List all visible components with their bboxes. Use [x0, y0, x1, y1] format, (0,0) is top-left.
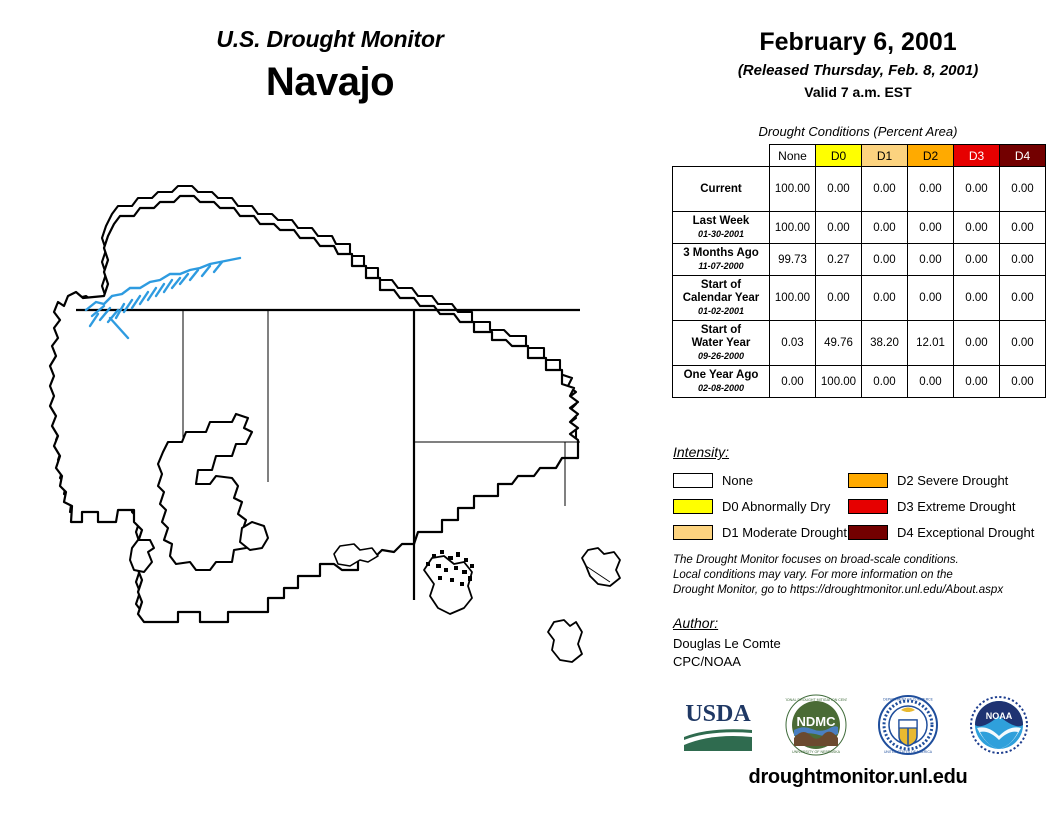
table-cell-value: 0.00	[908, 366, 954, 398]
table-col-header-d4: D4	[1000, 145, 1046, 167]
map-svg	[20, 130, 660, 690]
valid-date: February 6, 2001	[660, 28, 1056, 57]
legend-label: D1 Moderate Drought	[722, 525, 847, 540]
detached-parcel-north	[334, 544, 378, 566]
legend-label: D4 Exceptional Drought	[897, 525, 1034, 540]
table-cell-value: 0.00	[954, 366, 1000, 398]
table-row-label: 3 Months Ago11-07-2000	[673, 244, 770, 276]
table-row-label: Current	[673, 167, 770, 212]
table-row: Current100.000.000.000.000.000.00	[673, 167, 1046, 212]
svg-text:UNITED STATES OF AMERICA: UNITED STATES OF AMERICA	[884, 750, 933, 754]
legend-swatch	[673, 525, 713, 540]
title-block: U.S. Drought Monitor Navajo	[0, 26, 660, 105]
table-cell-value: 0.00	[862, 167, 908, 212]
row-label-date: 01-02-2001	[675, 305, 767, 317]
disclaimer-line-2: Local conditions may vary. For more info…	[673, 568, 1053, 583]
row-label-text: Start of	[675, 279, 767, 292]
table-cell-value: 0.00	[1000, 212, 1046, 244]
row-label-text: 3 Months Ago	[675, 247, 767, 260]
ndmc-logo: NDMC NATIONAL DROUGHT MITIGATION CENTER …	[785, 694, 847, 756]
author-title: Author:	[673, 615, 718, 631]
table-cell-value: 38.20	[862, 321, 908, 366]
row-label-date: 01-30-2001	[675, 228, 767, 240]
legend-swatch	[848, 473, 888, 488]
table-cell-value: 0.00	[908, 244, 954, 276]
table-cell-value: 0.00	[1000, 276, 1046, 321]
svg-text:NATIONAL DROUGHT MITIGATION CE: NATIONAL DROUGHT MITIGATION CENTER	[785, 698, 847, 702]
table-cell-value: 0.00	[1000, 244, 1046, 276]
table-cell-value: 0.00	[1000, 167, 1046, 212]
legend-swatch	[673, 473, 713, 488]
detached-parcel-tohajiilee	[548, 620, 582, 662]
row-label-text: One Year Ago	[675, 369, 767, 382]
table-cell-value: 0.00	[862, 366, 908, 398]
table-cell-value: 0.00	[1000, 366, 1046, 398]
author-block: Douglas Le Comte CPC/NOAA	[673, 635, 781, 671]
intensity-legend-title: Intensity:	[673, 444, 729, 460]
legend-row: D2 Severe Drought	[848, 468, 1034, 492]
legend-row: D0 Abnormally Dry	[673, 494, 847, 518]
region-title: Navajo	[0, 60, 660, 105]
table-cell-value: 0.00	[1000, 321, 1046, 366]
site-url: droughtmonitor.unl.edu	[660, 766, 1056, 789]
table-cell-value: 100.00	[770, 212, 816, 244]
table-cell-value: 100.00	[770, 167, 816, 212]
table-col-header-d3: D3	[954, 145, 1000, 167]
svg-text:NOAA: NOAA	[986, 711, 1013, 721]
table-row: 3 Months Ago11-07-200099.730.270.000.000…	[673, 244, 1046, 276]
row-label-text: Calendar Year	[675, 292, 767, 305]
drought-map	[20, 130, 660, 690]
usda-logo: USDA	[680, 697, 756, 753]
table-cell-value: 0.00	[954, 321, 1000, 366]
legend-row: D3 Extreme Drought	[848, 494, 1034, 518]
disclaimer-line-3: Drought Monitor, go to https://droughtmo…	[673, 583, 1053, 598]
valid-time: Valid 7 a.m. EST	[660, 84, 1056, 100]
map-boundaries	[50, 196, 620, 662]
drought-conditions-table: NoneD0D1D2D3D4 Current100.000.000.000.00…	[672, 144, 1046, 398]
row-label-date: 09-26-2000	[675, 350, 767, 362]
table-cell-value: 49.76	[816, 321, 862, 366]
table-cell-value: 100.00	[816, 366, 862, 398]
legend-swatch	[848, 525, 888, 540]
table-col-header-none: None	[770, 145, 816, 167]
table-col-header-d2: D2	[908, 145, 954, 167]
legend-row: D1 Moderate Drought	[673, 520, 847, 544]
table-cell-value: 0.27	[816, 244, 862, 276]
detached-parcel-alamo	[424, 556, 472, 614]
table-row-label: Last Week01-30-2001	[673, 212, 770, 244]
program-title: U.S. Drought Monitor	[0, 26, 660, 53]
legend-row: D4 Exceptional Drought	[848, 520, 1034, 544]
logo-row: USDA NDMC NATIONAL DROUGHT MITIGATION CE…	[665, 690, 1045, 760]
intensity-legend-left: NoneD0 Abnormally DryD1 Moderate Drought	[673, 468, 847, 546]
legend-label: D2 Severe Drought	[897, 473, 1008, 488]
disclaimer-line-1: The Drought Monitor focuses on broad-sca…	[673, 553, 1053, 568]
table-row-label: Start ofWater Year09-26-2000	[673, 321, 770, 366]
table-cell-value: 99.73	[770, 244, 816, 276]
legend-label: D3 Extreme Drought	[897, 499, 1016, 514]
table-cell-value: 0.00	[816, 276, 862, 321]
noaa-logo: NOAA	[968, 694, 1030, 756]
table-cell-value: 0.00	[816, 212, 862, 244]
table-row: Last Week01-30-2001100.000.000.000.000.0…	[673, 212, 1046, 244]
legend-label: None	[722, 473, 753, 488]
table-cell-value: 0.00	[862, 212, 908, 244]
release-date: (Released Thursday, Feb. 8, 2001)	[660, 62, 1056, 79]
svg-text:DEPARTMENT OF COMMERCE: DEPARTMENT OF COMMERCE	[883, 698, 933, 702]
svg-text:NDMC: NDMC	[797, 714, 837, 729]
table-corner-cell	[673, 145, 770, 167]
table-cell-value: 0.00	[908, 167, 954, 212]
table-row: Start ofWater Year09-26-20000.0349.7638.…	[673, 321, 1046, 366]
legend-label: D0 Abnormally Dry	[722, 499, 830, 514]
table-col-header-d1: D1	[862, 145, 908, 167]
table-cell-value: 100.00	[770, 276, 816, 321]
table-row-label: Start ofCalendar Year01-02-2001	[673, 276, 770, 321]
date-block: February 6, 2001 (Released Thursday, Feb…	[660, 28, 1056, 100]
table-caption: Drought Conditions (Percent Area)	[660, 124, 1056, 139]
table-cell-value: 0.00	[954, 244, 1000, 276]
usdc-seal-logo: DEPARTMENT OF COMMERCE UNITED STATES OF …	[877, 694, 939, 756]
row-label-text: Last Week	[675, 215, 767, 228]
table-body: Current100.000.000.000.000.000.00Last We…	[673, 167, 1046, 398]
table-row: Start ofCalendar Year01-02-2001100.000.0…	[673, 276, 1046, 321]
table-cell-value: 0.03	[770, 321, 816, 366]
row-label-date: 11-07-2000	[675, 260, 767, 272]
row-label-text: Start of	[675, 324, 767, 337]
table-col-header-d0: D0	[816, 145, 862, 167]
author-affiliation: CPC/NOAA	[673, 653, 781, 671]
hopi-village-polygon	[240, 522, 268, 550]
author-name: Douglas Le Comte	[673, 635, 781, 653]
table-cell-value: 0.00	[954, 167, 1000, 212]
table-header-row: NoneD0D1D2D3D4	[673, 145, 1046, 167]
row-label-text: Current	[675, 183, 767, 196]
table-cell-value: 0.00	[770, 366, 816, 398]
table-cell-value: 12.01	[908, 321, 954, 366]
table-cell-value: 0.00	[954, 212, 1000, 244]
svg-text:USDA: USDA	[685, 701, 751, 727]
intensity-legend-right: D2 Severe DroughtD3 Extreme DroughtD4 Ex…	[848, 468, 1034, 546]
table-row-label: One Year Ago02-08-2000	[673, 366, 770, 398]
row-label-text: Water Year	[675, 337, 767, 350]
navajo-boundary	[50, 196, 578, 622]
table-cell-value: 0.00	[862, 244, 908, 276]
svg-text:UNIVERSITY OF NEBRASKA: UNIVERSITY OF NEBRASKA	[792, 750, 841, 754]
table-cell-value: 0.00	[908, 276, 954, 321]
table-cell-value: 0.00	[862, 276, 908, 321]
legend-swatch	[848, 499, 888, 514]
table-cell-value: 0.00	[954, 276, 1000, 321]
row-label-date: 02-08-2000	[675, 382, 767, 394]
table-row: One Year Ago02-08-20000.00100.000.000.00…	[673, 366, 1046, 398]
table-cell-value: 0.00	[908, 212, 954, 244]
legend-swatch	[673, 499, 713, 514]
table-cell-value: 0.00	[816, 167, 862, 212]
disclaimer-text: The Drought Monitor focuses on broad-sca…	[673, 553, 1053, 598]
legend-row: None	[673, 468, 847, 492]
